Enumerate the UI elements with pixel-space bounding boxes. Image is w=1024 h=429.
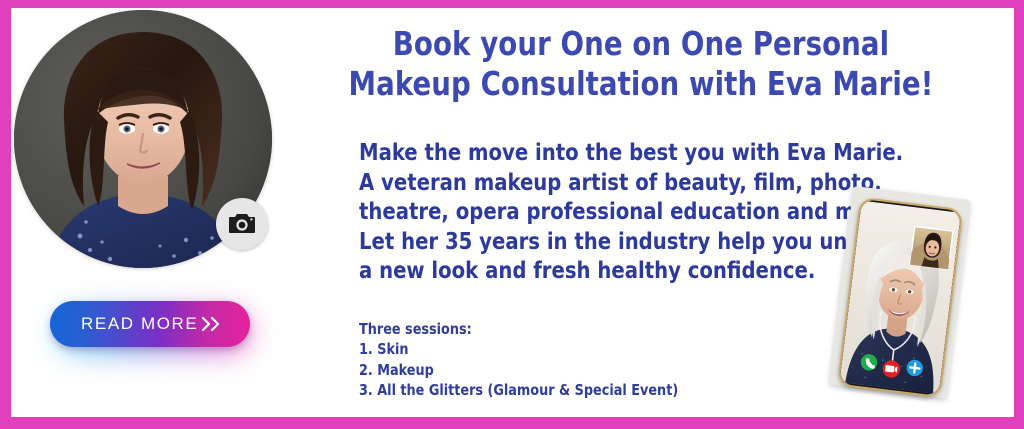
read-more-label: READ MORE [81, 314, 198, 334]
read-more-button[interactable]: READ MORE [50, 301, 250, 347]
body-line-5: a new look and fresh healthy confidence. [359, 257, 853, 287]
body-line-2: A veteran makeup artist of beauty, film,… [359, 169, 853, 199]
session-item-3: 3. All the Glitters (Glamour & Special E… [359, 380, 853, 400]
session-item-1: 1. Skin [359, 339, 853, 359]
page-title: Book your One on One Personal Makeup Con… [334, 24, 948, 105]
headline-line-2: Makeup Consultation with Eva Marie! [334, 64, 948, 104]
video-call-phone-photo [832, 190, 978, 408]
body-line-4: Let her 35 years in the industry help yo… [359, 228, 853, 258]
headline-line-1: Book your One on One Personal [334, 24, 948, 64]
body-copy: Make the move into the best you with Eva… [359, 139, 853, 287]
sessions-list: Three sessions: 1. Skin 2. Makeup 3. All… [359, 319, 853, 400]
double-chevron-right-icon [200, 316, 224, 332]
body-line-3: theatre, opera professional education an… [359, 198, 853, 228]
camera-icon[interactable] [216, 198, 268, 250]
banner-inner: READ MORE Book your One on One Personal … [11, 8, 1014, 417]
read-more-button-wrap: READ MORE [50, 301, 260, 359]
avatar[interactable] [14, 10, 272, 268]
body-line-1: Make the move into the best you with Eva… [359, 139, 853, 169]
promo-banner: READ MORE Book your One on One Personal … [0, 0, 1024, 429]
sessions-title: Three sessions: [359, 319, 853, 339]
session-item-2: 2. Makeup [359, 360, 853, 380]
